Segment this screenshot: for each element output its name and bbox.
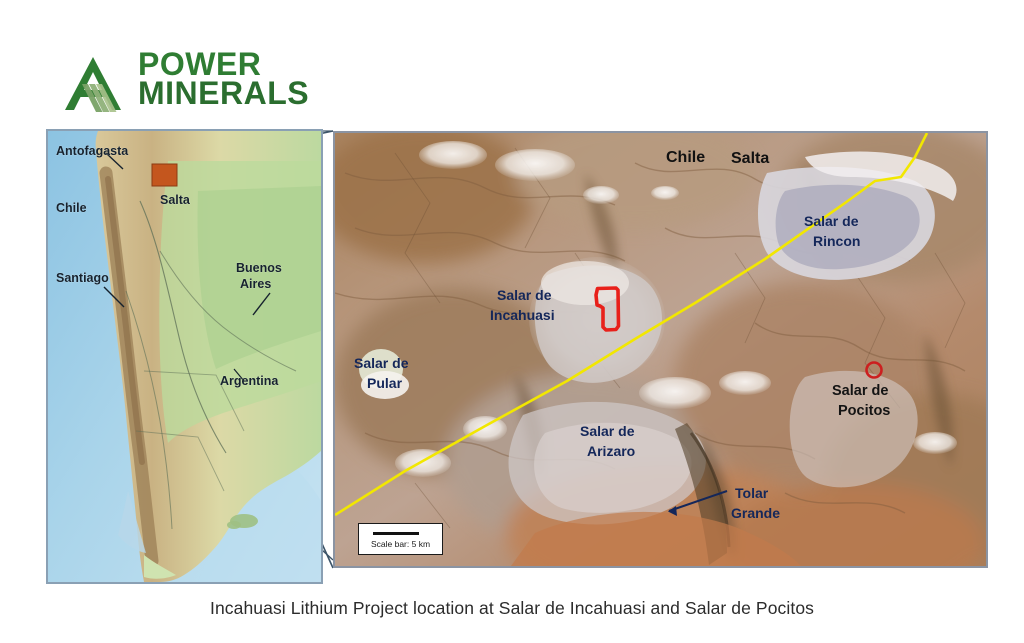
scale-bar-rule bbox=[373, 532, 419, 535]
map-label-salar-de-incahuasi-line1: Salar de bbox=[497, 287, 552, 303]
inset-label-argentina: Argentina bbox=[220, 374, 279, 388]
triangle-mountain-logo-icon bbox=[62, 54, 126, 116]
scale-bar: Scale bar: 5 km bbox=[358, 523, 443, 555]
map-label-salar-de-pocitos-line2: Pocitos bbox=[838, 403, 890, 419]
main-satellite-map[interactable]: Chile Salta Salar de Rincon Salar de Inc… bbox=[333, 131, 988, 568]
inset-label-antofagasta: Antofagasta bbox=[56, 144, 129, 158]
inset-label-buenos: Buenos bbox=[236, 261, 282, 275]
map-label-salar-de-rincon-line1: Salar de bbox=[804, 213, 859, 229]
map-label-salar-de-rincon-line2: Rincon bbox=[813, 233, 860, 249]
map-label-salar-de-arizaro-line1: Salar de bbox=[580, 423, 635, 439]
scale-bar-label: Scale bar: 5 km bbox=[359, 539, 442, 549]
map-label-tolar-grande-line2: Grande bbox=[731, 505, 780, 521]
map-label-salar-de-arizaro-line2: Arizaro bbox=[587, 443, 635, 459]
inset-label-aires: Aires bbox=[240, 277, 271, 291]
inset-label-chile: Chile bbox=[56, 201, 87, 215]
map-label-tolar-grande-line1: Tolar bbox=[735, 485, 769, 501]
figure-caption: Incahuasi Lithium Project location at Sa… bbox=[0, 598, 1024, 619]
map-label-chile: Chile bbox=[666, 149, 705, 166]
brand-line-minerals: MINERALS bbox=[138, 79, 309, 108]
inset-locator-map[interactable]: Antofagasta Chile Santiago Salta Buenos … bbox=[46, 129, 323, 584]
map-label-salar-de-pocitos-line1: Salar de bbox=[832, 383, 888, 399]
inset-label-salta: Salta bbox=[160, 193, 191, 207]
map-label-salta: Salta bbox=[731, 150, 769, 167]
inset-label-santiago: Santiago bbox=[56, 271, 109, 285]
brand-wordmark: POWER MINERALS bbox=[138, 50, 309, 109]
map-label-salar-de-pular-line1: Salar de bbox=[354, 355, 409, 371]
map-label-salar-de-incahuasi-line2: Incahuasi bbox=[490, 307, 555, 323]
brand-logo: POWER MINERALS bbox=[62, 52, 342, 124]
map-label-salar-de-pular-line2: Pular bbox=[367, 375, 403, 391]
